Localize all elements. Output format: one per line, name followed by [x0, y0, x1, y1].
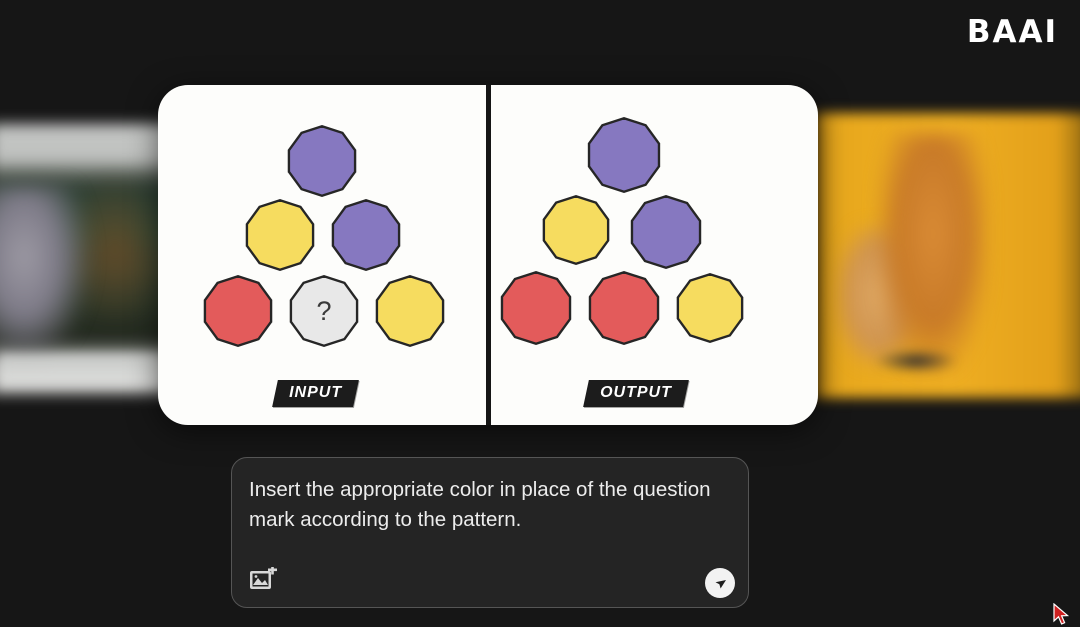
shape-fill — [632, 198, 701, 267]
shape-top-purple — [586, 117, 662, 193]
baai-logo: BAAI — [967, 14, 1058, 50]
shape-fill — [377, 278, 444, 345]
output-panel: OUTPUT — [491, 85, 818, 425]
shape-fill — [678, 276, 743, 341]
shape-bottom-right-yellow — [374, 275, 446, 347]
shape-mid-right-purple — [330, 199, 402, 271]
input-shape-group: ? — [158, 85, 486, 425]
shape-fill — [247, 202, 314, 269]
add-image-icon[interactable] — [249, 567, 279, 593]
background-photo-left-bar — [0, 355, 160, 385]
shape-mid-left-yellow — [541, 195, 611, 265]
output-badge-label: OUTPUT — [600, 384, 672, 402]
shape-bottom-mid-red — [587, 271, 661, 345]
background-photo-right-dog — [878, 133, 988, 373]
shape-bottom-right-yellow — [675, 273, 745, 343]
task-card: ? INPUT OUTPUT — [158, 85, 818, 425]
shape-fill — [502, 274, 571, 343]
input-panel: ? INPUT — [158, 85, 486, 425]
input-badge: INPUT — [272, 380, 359, 407]
send-button[interactable] — [705, 568, 735, 598]
shape-bottom-mid-gray: ? — [288, 275, 360, 347]
input-badge-label: INPUT — [289, 384, 342, 402]
prompt-input-box[interactable]: Insert the appropriate color in place of… — [231, 457, 749, 608]
shape-mid-left-yellow — [244, 199, 316, 271]
output-shape-group — [491, 85, 818, 425]
question-mark-label: ? — [316, 298, 331, 325]
background-photo-right-bowl — [876, 350, 956, 372]
prompt-text: Insert the appropriate color in place of… — [249, 475, 719, 535]
output-badge: OUTPUT — [583, 380, 689, 407]
shape-fill: ? — [291, 278, 358, 345]
shape-fill — [289, 128, 356, 195]
shape-fill — [590, 274, 659, 343]
shape-fill — [589, 120, 660, 191]
shape-bottom-left-red — [499, 271, 573, 345]
send-arrow-icon — [713, 576, 728, 591]
shape-fill — [544, 198, 609, 263]
shape-fill — [333, 202, 400, 269]
shape-fill — [205, 278, 272, 345]
shape-bottom-left-red — [202, 275, 274, 347]
shape-top-purple — [286, 125, 358, 197]
background-photo-left-person — [0, 185, 90, 365]
mouse-cursor — [1053, 603, 1075, 627]
shape-mid-right-purple — [629, 195, 703, 269]
